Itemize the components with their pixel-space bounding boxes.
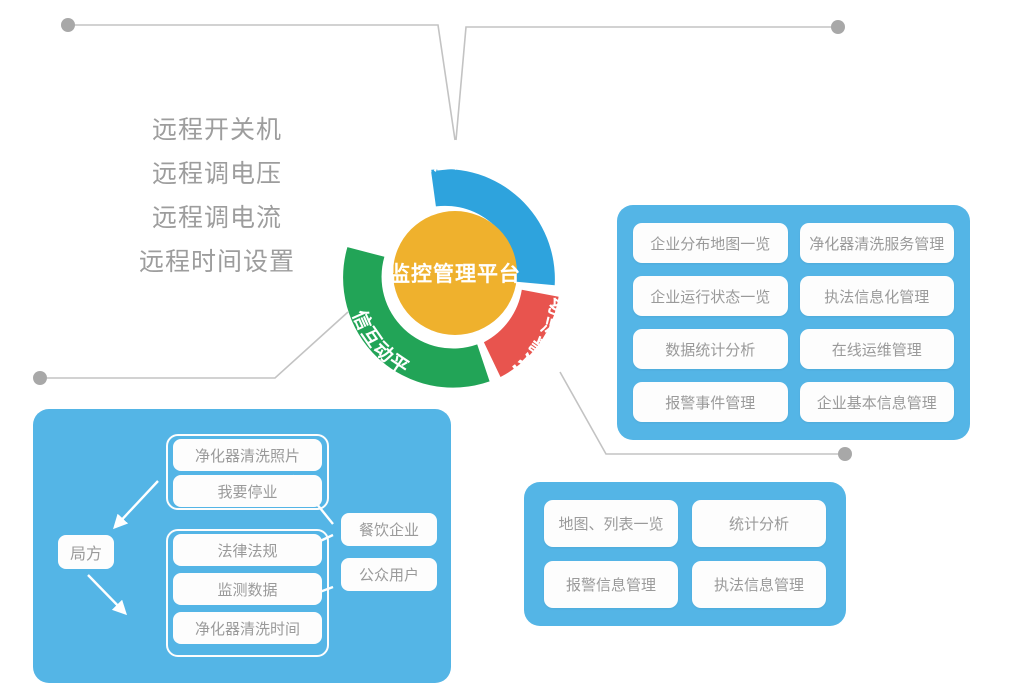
flow-actor-bureau[interactable]: 局方 [58,535,114,569]
app-module-panel: 地图、列表一览 统计分析 报警信息管理 执法信息管理 [524,482,846,626]
module-chip[interactable]: 企业基本信息管理 [800,382,955,422]
module-chip[interactable]: 净化器清洗服务管理 [800,223,955,263]
diagram-canvas: 远程开关机 远程调电压 远程调电流 远程时间设置 WEB端应用软件 [0,0,1012,693]
feature-item-1: 远程调电压 [112,152,322,196]
flow-chip-monitoring-data[interactable]: 监测数据 [173,573,322,605]
module-chip[interactable]: 报警信息管理 [544,561,678,608]
flow-actor-public-user[interactable]: 公众用户 [341,558,437,591]
arrow-bureau-to-bottom [88,575,125,613]
module-chip[interactable]: 在线运维管理 [800,329,955,369]
module-chip[interactable]: 统计分析 [692,500,826,547]
web-module-panel: 企业分布地图一览 净化器清洗服务管理 企业运行状态一览 执法信息化管理 数据统计… [617,205,970,440]
flow-chip-cleaning-photo[interactable]: 净化器清洗照片 [173,439,322,471]
module-chip[interactable]: 报警事件管理 [633,382,788,422]
arrow-bureau-to-top [115,481,158,527]
connector-dot-top-left [61,18,75,32]
module-chip[interactable]: 执法信息化管理 [800,276,955,316]
module-chip[interactable]: 数据统计分析 [633,329,788,369]
wechat-flow-panel: 净化器清洗照片 我要停业 法律法规 监测数据 净化器清洗时间 局方 餐饮企业 公… [33,409,451,683]
module-chip[interactable]: 企业分布地图一览 [633,223,788,263]
connector-bottom-left [40,312,348,378]
module-chip[interactable]: 地图、列表一览 [544,500,678,547]
feature-list: 远程开关机 远程调电压 远程调电流 远程时间设置 [112,108,322,284]
feature-item-2: 远程调电流 [112,196,322,240]
connector-dot-bottom-left [33,371,47,385]
flow-chip-suspend-business[interactable]: 我要停业 [173,475,322,507]
module-chip[interactable]: 企业运行状态一览 [633,276,788,316]
feature-item-0: 远程开关机 [112,108,322,152]
connector-dot-right [838,447,852,461]
flow-actor-restaurant[interactable]: 餐饮企业 [341,513,437,546]
flow-chip-cleaning-time[interactable]: 净化器清洗时间 [173,612,322,644]
feature-item-3: 远程时间设置 [112,240,322,284]
connector-top-right [456,27,838,140]
flow-chip-laws[interactable]: 法律法规 [173,534,322,566]
hub-donut: WEB端应用软件 移动终端APP 微信互动平台 监控管理平台 [305,128,605,418]
module-chip[interactable]: 执法信息管理 [692,561,826,608]
hub-center-disc[interactable] [393,211,517,335]
connector-dot-top-right [831,20,845,34]
